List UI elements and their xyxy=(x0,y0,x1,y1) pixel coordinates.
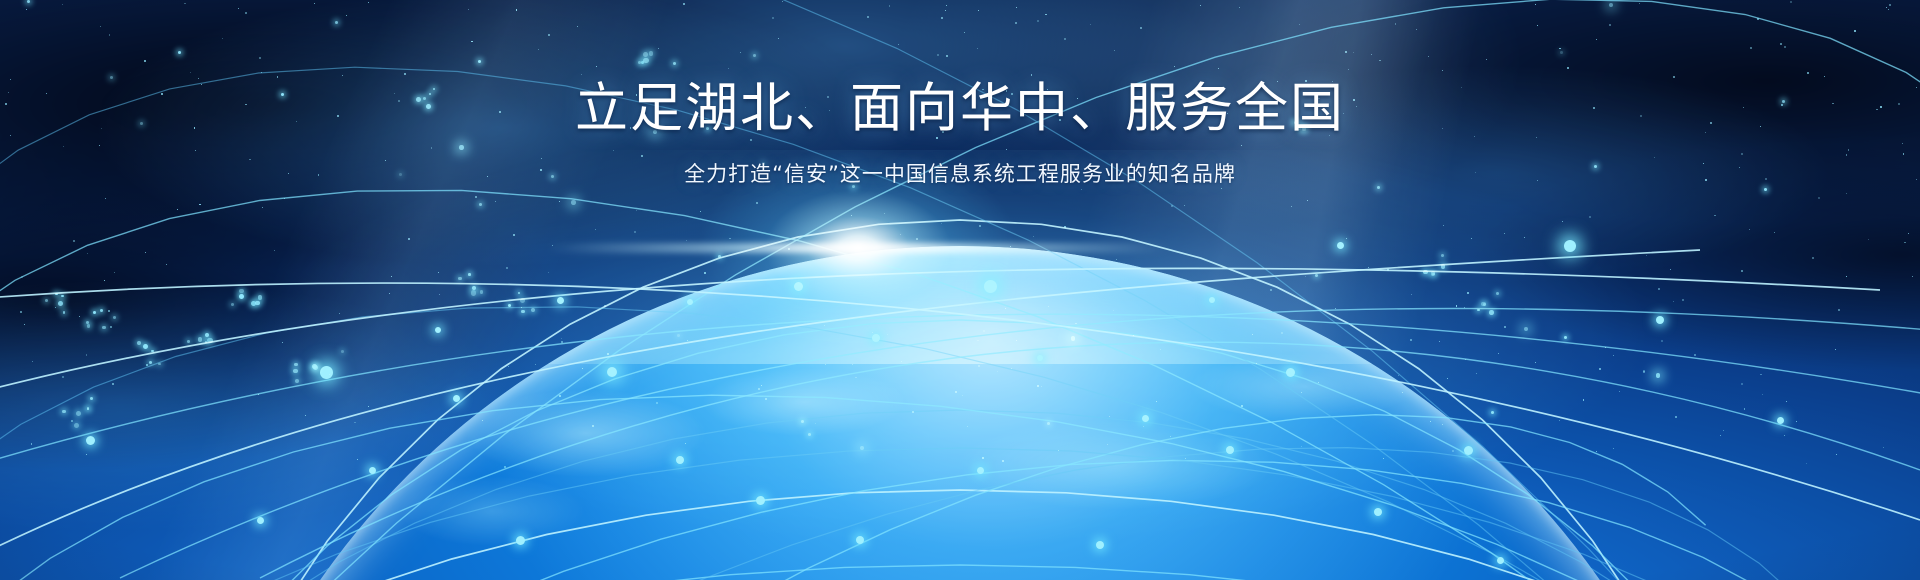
star-cluster-point xyxy=(518,292,520,294)
star xyxy=(677,334,680,337)
star xyxy=(852,364,853,365)
star xyxy=(71,420,73,422)
star-cluster-point xyxy=(1441,264,1446,269)
star xyxy=(90,397,93,400)
star-cluster-point xyxy=(93,311,96,314)
star xyxy=(1476,373,1477,374)
star xyxy=(1410,339,1412,341)
star xyxy=(20,311,22,313)
star xyxy=(656,402,658,404)
star xyxy=(1720,435,1721,436)
star-cluster-point xyxy=(87,407,90,410)
star-cluster-point xyxy=(58,301,63,306)
star-cluster-point xyxy=(426,104,431,109)
star xyxy=(1185,458,1186,459)
star-cluster-point xyxy=(643,58,648,63)
star xyxy=(1723,430,1724,431)
star-cluster-point xyxy=(187,340,190,343)
star xyxy=(1156,401,1157,402)
star xyxy=(1619,391,1620,392)
star-cluster-point xyxy=(158,363,161,366)
star xyxy=(687,340,688,341)
star xyxy=(1661,340,1663,342)
star xyxy=(482,420,483,421)
star xyxy=(1613,448,1614,449)
star xyxy=(815,423,816,424)
star xyxy=(31,443,32,444)
star-cluster-point xyxy=(1298,127,1301,130)
star-cluster-point xyxy=(294,363,298,367)
star xyxy=(559,395,561,397)
star-cluster-point xyxy=(63,311,66,314)
star-cluster-point xyxy=(149,361,152,364)
star xyxy=(1447,378,1448,379)
star xyxy=(1075,323,1076,324)
star-cluster-point xyxy=(521,310,524,313)
star-cluster-point xyxy=(76,411,81,416)
star xyxy=(1559,420,1560,421)
star xyxy=(79,316,80,317)
star xyxy=(1143,426,1144,427)
star-cluster-point xyxy=(1489,310,1494,315)
star xyxy=(561,341,563,343)
star xyxy=(108,310,110,312)
star xyxy=(592,425,594,427)
star xyxy=(1675,416,1677,418)
star xyxy=(1256,363,1257,364)
star xyxy=(607,353,609,355)
star xyxy=(32,361,33,362)
star xyxy=(955,391,957,393)
star xyxy=(824,325,825,326)
star xyxy=(368,406,369,407)
foreground-sparkles xyxy=(0,0,1920,580)
star-cluster-point xyxy=(471,290,476,295)
star-cluster-point xyxy=(472,286,477,291)
star xyxy=(535,364,536,365)
star-cluster-point xyxy=(1302,128,1305,131)
star xyxy=(1160,349,1161,350)
star xyxy=(1744,408,1745,409)
star-cluster-point xyxy=(508,304,511,307)
star xyxy=(1784,435,1785,436)
star xyxy=(1694,354,1696,356)
star-cluster-point xyxy=(1477,309,1480,312)
star xyxy=(1786,401,1787,402)
star xyxy=(1883,447,1884,448)
star xyxy=(1071,336,1076,341)
star xyxy=(1041,386,1042,387)
star xyxy=(62,376,63,377)
star-cluster-point xyxy=(62,410,66,414)
star xyxy=(1398,375,1399,376)
star-cluster-point xyxy=(102,326,106,330)
star xyxy=(1318,382,1319,383)
star xyxy=(1170,436,1171,437)
star-cluster-point xyxy=(205,333,210,338)
star xyxy=(112,383,114,385)
star xyxy=(1762,394,1763,395)
star-cluster-point xyxy=(1294,121,1297,124)
star xyxy=(1583,399,1584,400)
star xyxy=(1002,460,1004,462)
star-cluster-point xyxy=(239,294,244,299)
star xyxy=(1335,308,1336,309)
star xyxy=(305,415,306,416)
star-cluster-point xyxy=(1441,254,1444,257)
star-cluster-point xyxy=(87,324,91,328)
star xyxy=(1613,355,1614,356)
star xyxy=(1673,301,1674,302)
star-cluster-point xyxy=(468,273,471,276)
star xyxy=(1656,373,1661,378)
star xyxy=(860,446,865,451)
star xyxy=(872,332,873,333)
star xyxy=(521,307,522,308)
star xyxy=(761,385,762,386)
star xyxy=(1643,371,1645,373)
star xyxy=(1498,353,1499,354)
star xyxy=(282,342,283,343)
star xyxy=(1760,374,1761,375)
star xyxy=(887,334,888,335)
star xyxy=(808,433,811,436)
star xyxy=(1456,305,1457,306)
star-cluster-point xyxy=(205,341,207,343)
star xyxy=(801,420,804,423)
star xyxy=(1011,368,1012,369)
star xyxy=(1491,411,1494,414)
star xyxy=(582,368,583,369)
star-cluster-point xyxy=(1483,303,1486,306)
star xyxy=(1806,463,1807,464)
star xyxy=(765,398,767,400)
star xyxy=(1016,340,1017,341)
star xyxy=(1109,416,1110,417)
star xyxy=(1504,326,1506,328)
star-cluster-point xyxy=(458,277,462,281)
star xyxy=(1281,332,1283,334)
star-cluster-point xyxy=(1431,271,1435,275)
star xyxy=(1058,450,1059,451)
star-cluster-point xyxy=(423,97,426,100)
star xyxy=(1107,444,1108,445)
star-cluster-point xyxy=(1496,292,1499,295)
star-cluster-point xyxy=(295,379,300,384)
star xyxy=(1596,451,1597,452)
star-cluster-point xyxy=(239,289,243,293)
star-cluster-point xyxy=(649,51,654,56)
star xyxy=(962,395,963,396)
star xyxy=(113,316,116,319)
star xyxy=(508,366,509,367)
star xyxy=(1452,450,1454,452)
star xyxy=(1464,307,1465,308)
star-cluster-point xyxy=(433,88,435,90)
star xyxy=(110,326,112,328)
star-cluster-point xyxy=(520,298,525,303)
star-cluster-point xyxy=(480,290,483,293)
star xyxy=(561,338,562,339)
star xyxy=(258,394,259,395)
star-cluster-point xyxy=(137,341,141,345)
star xyxy=(977,340,978,341)
star-cluster-point xyxy=(1423,270,1428,275)
star xyxy=(339,313,340,314)
star xyxy=(1442,424,1443,425)
star xyxy=(146,364,148,366)
star xyxy=(329,374,330,375)
star xyxy=(341,350,344,353)
star xyxy=(912,411,914,413)
star xyxy=(1796,421,1797,422)
star-cluster-point xyxy=(643,52,648,57)
star xyxy=(1133,335,1134,336)
star xyxy=(901,361,902,362)
star xyxy=(1301,446,1302,447)
star-cluster-point xyxy=(55,293,58,296)
star xyxy=(982,457,984,459)
star xyxy=(1113,310,1114,311)
star xyxy=(1048,306,1049,307)
star xyxy=(1005,308,1006,309)
star xyxy=(604,305,606,307)
star xyxy=(1383,458,1384,459)
star-cluster-point xyxy=(45,299,48,302)
star xyxy=(354,422,355,423)
star-cluster-point xyxy=(100,309,103,312)
star xyxy=(997,371,998,372)
star xyxy=(855,377,856,378)
star xyxy=(983,330,985,332)
star xyxy=(1524,327,1529,332)
star-cluster-point xyxy=(638,61,641,64)
star-cluster-point xyxy=(207,338,212,343)
star xyxy=(1241,405,1243,407)
star xyxy=(1465,359,1466,360)
star xyxy=(685,443,686,444)
star xyxy=(1741,383,1743,385)
star xyxy=(231,303,234,306)
star xyxy=(24,324,25,325)
star xyxy=(1535,362,1536,363)
star xyxy=(55,307,56,308)
star xyxy=(758,388,760,390)
star xyxy=(1301,392,1302,393)
star xyxy=(1835,349,1836,350)
star-cluster-point xyxy=(258,295,263,300)
star-cluster-point xyxy=(416,97,421,102)
star xyxy=(86,354,87,355)
star-cluster-point xyxy=(151,350,154,353)
star xyxy=(1037,385,1039,387)
star-cluster-point xyxy=(429,93,431,95)
star-cluster-point xyxy=(61,295,64,298)
star xyxy=(1402,392,1403,393)
star-cluster-point xyxy=(143,344,148,349)
star xyxy=(1838,309,1840,311)
star xyxy=(504,466,506,468)
star xyxy=(1836,454,1837,455)
star xyxy=(86,454,87,455)
star xyxy=(1252,334,1253,335)
star xyxy=(978,365,980,367)
star xyxy=(1439,341,1440,342)
star xyxy=(1047,422,1050,425)
star xyxy=(967,426,968,427)
star xyxy=(1564,336,1567,339)
star xyxy=(1605,347,1606,348)
star-cluster-point xyxy=(74,423,79,428)
star-cluster-point xyxy=(293,369,298,374)
star xyxy=(825,364,826,365)
star xyxy=(1599,368,1601,370)
star-cluster-point xyxy=(531,308,535,312)
star-cluster-point xyxy=(198,337,203,342)
star-cluster-point xyxy=(255,301,260,306)
star xyxy=(357,459,358,460)
star xyxy=(1430,421,1431,422)
hero-banner: 立足湖北、面向华中、服务全国 全力打造“信安”这一中国信息系统工程服务业的知名品… xyxy=(0,0,1920,580)
